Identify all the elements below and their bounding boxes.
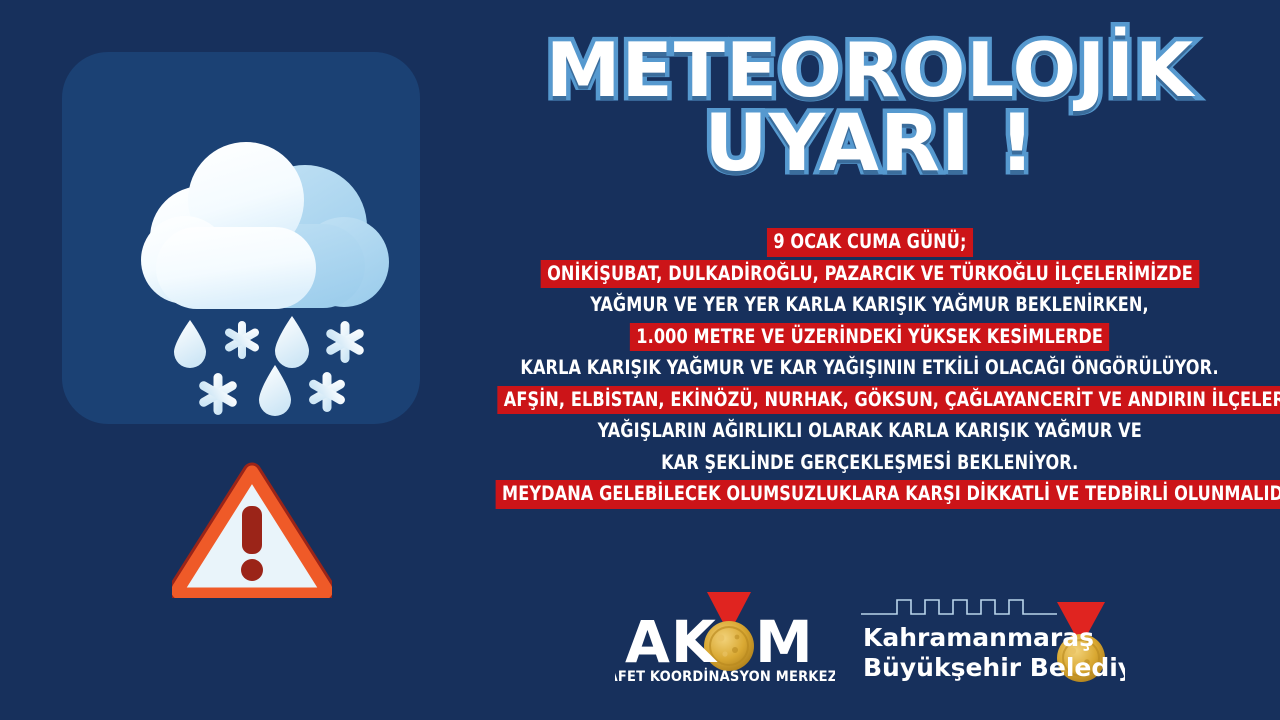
right-content-column: METEOROLOJİK UYARI ! 9 OCAK CUMA GÜNÜ;ON… [460,0,1280,720]
page-title: METEOROLOJİK UYARI ! [460,34,1280,182]
municipality-logo: Kahramanmaraş Büyükşehir Belediyesi [861,588,1125,686]
title-line-1: METEOROLOJİK [460,34,1280,107]
warning-line-plain: KAR ŞEKLİNDE GERÇEKLEŞMESİ BEKLENİYOR. [655,449,1085,478]
warning-line-highlighted: 1.000 METRE VE ÜZERİNDEKİ YÜKSEK KESİMLE… [630,323,1110,352]
warning-line: 1.000 METRE VE ÜZERİNDEKİ YÜKSEK KESİMLE… [460,323,1280,352]
title-line-2: UYARI ! [460,107,1280,183]
warning-line-plain: YAĞMUR VE YER YER KARLA KARIŞIK YAĞMUR B… [584,291,1155,320]
warning-line: 9 OCAK CUMA GÜNÜ; [460,228,1280,257]
left-illustration-column [0,0,460,720]
warning-line: KARLA KARIŞIK YAĞMUR VE KAR YAĞIŞININ ET… [460,354,1280,383]
footer-logos: AK M AFET KOORDİNASYON MERKEZİ [615,588,1125,688]
municipality-line-2: Büyükşehir Belediyesi [863,653,1125,682]
precipitation-top-row [174,316,365,368]
warning-line-plain: KARLA KARIŞIK YAĞMUR VE KAR YAĞIŞININ ET… [514,354,1225,383]
castle-battlement-icon [861,600,1057,614]
meteorological-warning-poster: METEOROLOJİK UYARI ! 9 OCAK CUMA GÜNÜ;ON… [0,0,1280,720]
warning-line: YAĞIŞLARIN AĞIRLIKLI OLARAK KARLA KARIŞI… [460,417,1280,446]
warning-line: AFŞİN, ELBİSTAN, EKİNÖZÜ, NURHAK, GÖKSUN… [460,386,1280,415]
warning-triangle-icon [172,462,332,598]
akom-letters-left: AK [625,608,718,676]
warning-line: ONİKİŞUBAT, DULKADİROĞLU, PAZARCIK VE TÜ… [460,260,1280,289]
municipality-line-1: Kahramanmaraş [863,623,1094,652]
precipitation-bottom-row [198,365,347,416]
weather-icon-tile [62,52,420,424]
warning-line: KAR ŞEKLİNDE GERÇEKLEŞMESİ BEKLENİYOR. [460,449,1280,478]
warning-line-highlighted: MEYDANA GELEBİLECEK OLUMSUZLUKLARA KARŞI… [496,480,1280,509]
warning-line-highlighted: ONİKİŞUBAT, DULKADİROĞLU, PAZARCIK VE TÜ… [541,260,1200,289]
warning-line: MEYDANA GELEBİLECEK OLUMSUZLUKLARA KARŞI… [460,480,1280,509]
akom-letters-right: M [755,608,813,676]
warning-body-text: 9 OCAK CUMA GÜNÜ;ONİKİŞUBAT, DULKADİROĞL… [460,228,1280,512]
warning-line: YAĞMUR VE YER YER KARLA KARIŞIK YAĞMUR B… [460,291,1280,320]
akom-subtitle: AFET KOORDİNASYON MERKEZİ [615,668,835,684]
warning-line-plain: YAĞIŞLARIN AĞIRLIKLI OLARAK KARLA KARIŞI… [591,417,1148,446]
cloud-with-rain-and-snow-icon [62,52,420,424]
akom-logo: AK M AFET KOORDİNASYON MERKEZİ [615,588,835,684]
warning-line-highlighted: 9 OCAK CUMA GÜNÜ; [767,228,973,257]
warning-line-highlighted: AFŞİN, ELBİSTAN, EKİNÖZÜ, NURHAK, GÖKSUN… [497,386,1280,415]
